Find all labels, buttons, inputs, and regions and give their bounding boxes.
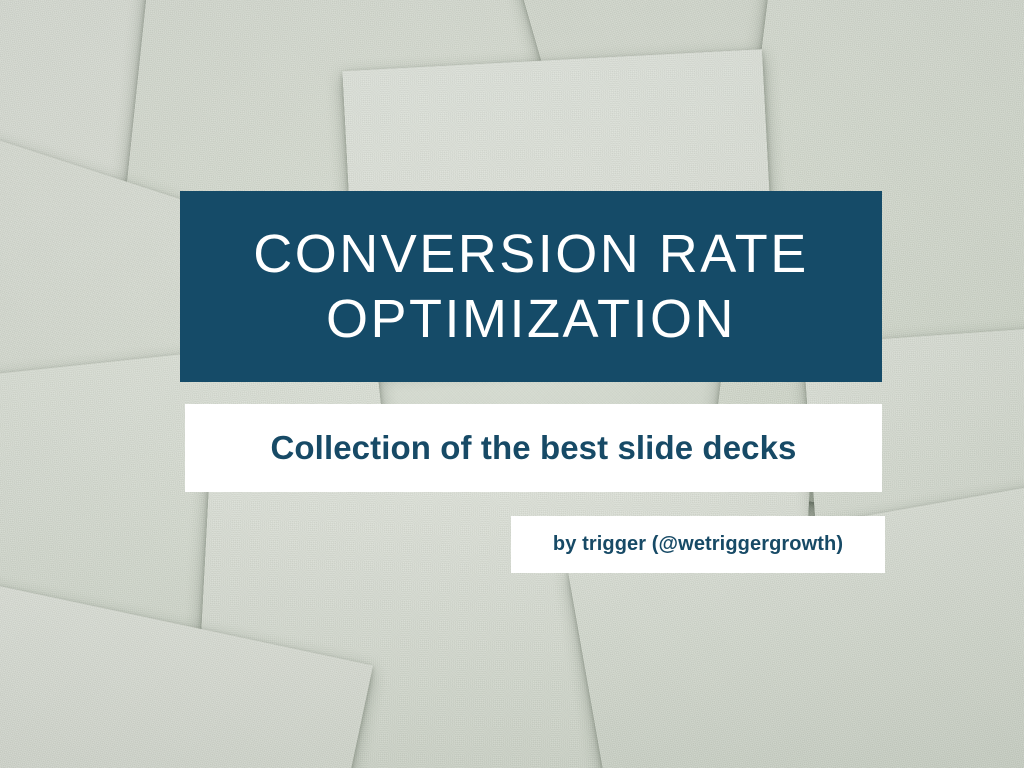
- byline-band: by trigger (@wetriggergrowth): [511, 516, 885, 573]
- title-band: CONVERSION RATE OPTIMIZATION: [180, 191, 882, 382]
- background-photo: [0, 0, 1024, 768]
- title-line-1: CONVERSION RATE: [253, 222, 809, 287]
- title-slide: CONVERSION RATE OPTIMIZATION Collection …: [0, 0, 1024, 768]
- subtitle-band: Collection of the best slide decks: [185, 404, 882, 492]
- subtitle-text: Collection of the best slide decks: [270, 429, 796, 467]
- byline-text: by trigger (@wetriggergrowth): [553, 533, 843, 556]
- title-line-2: OPTIMIZATION: [326, 287, 736, 352]
